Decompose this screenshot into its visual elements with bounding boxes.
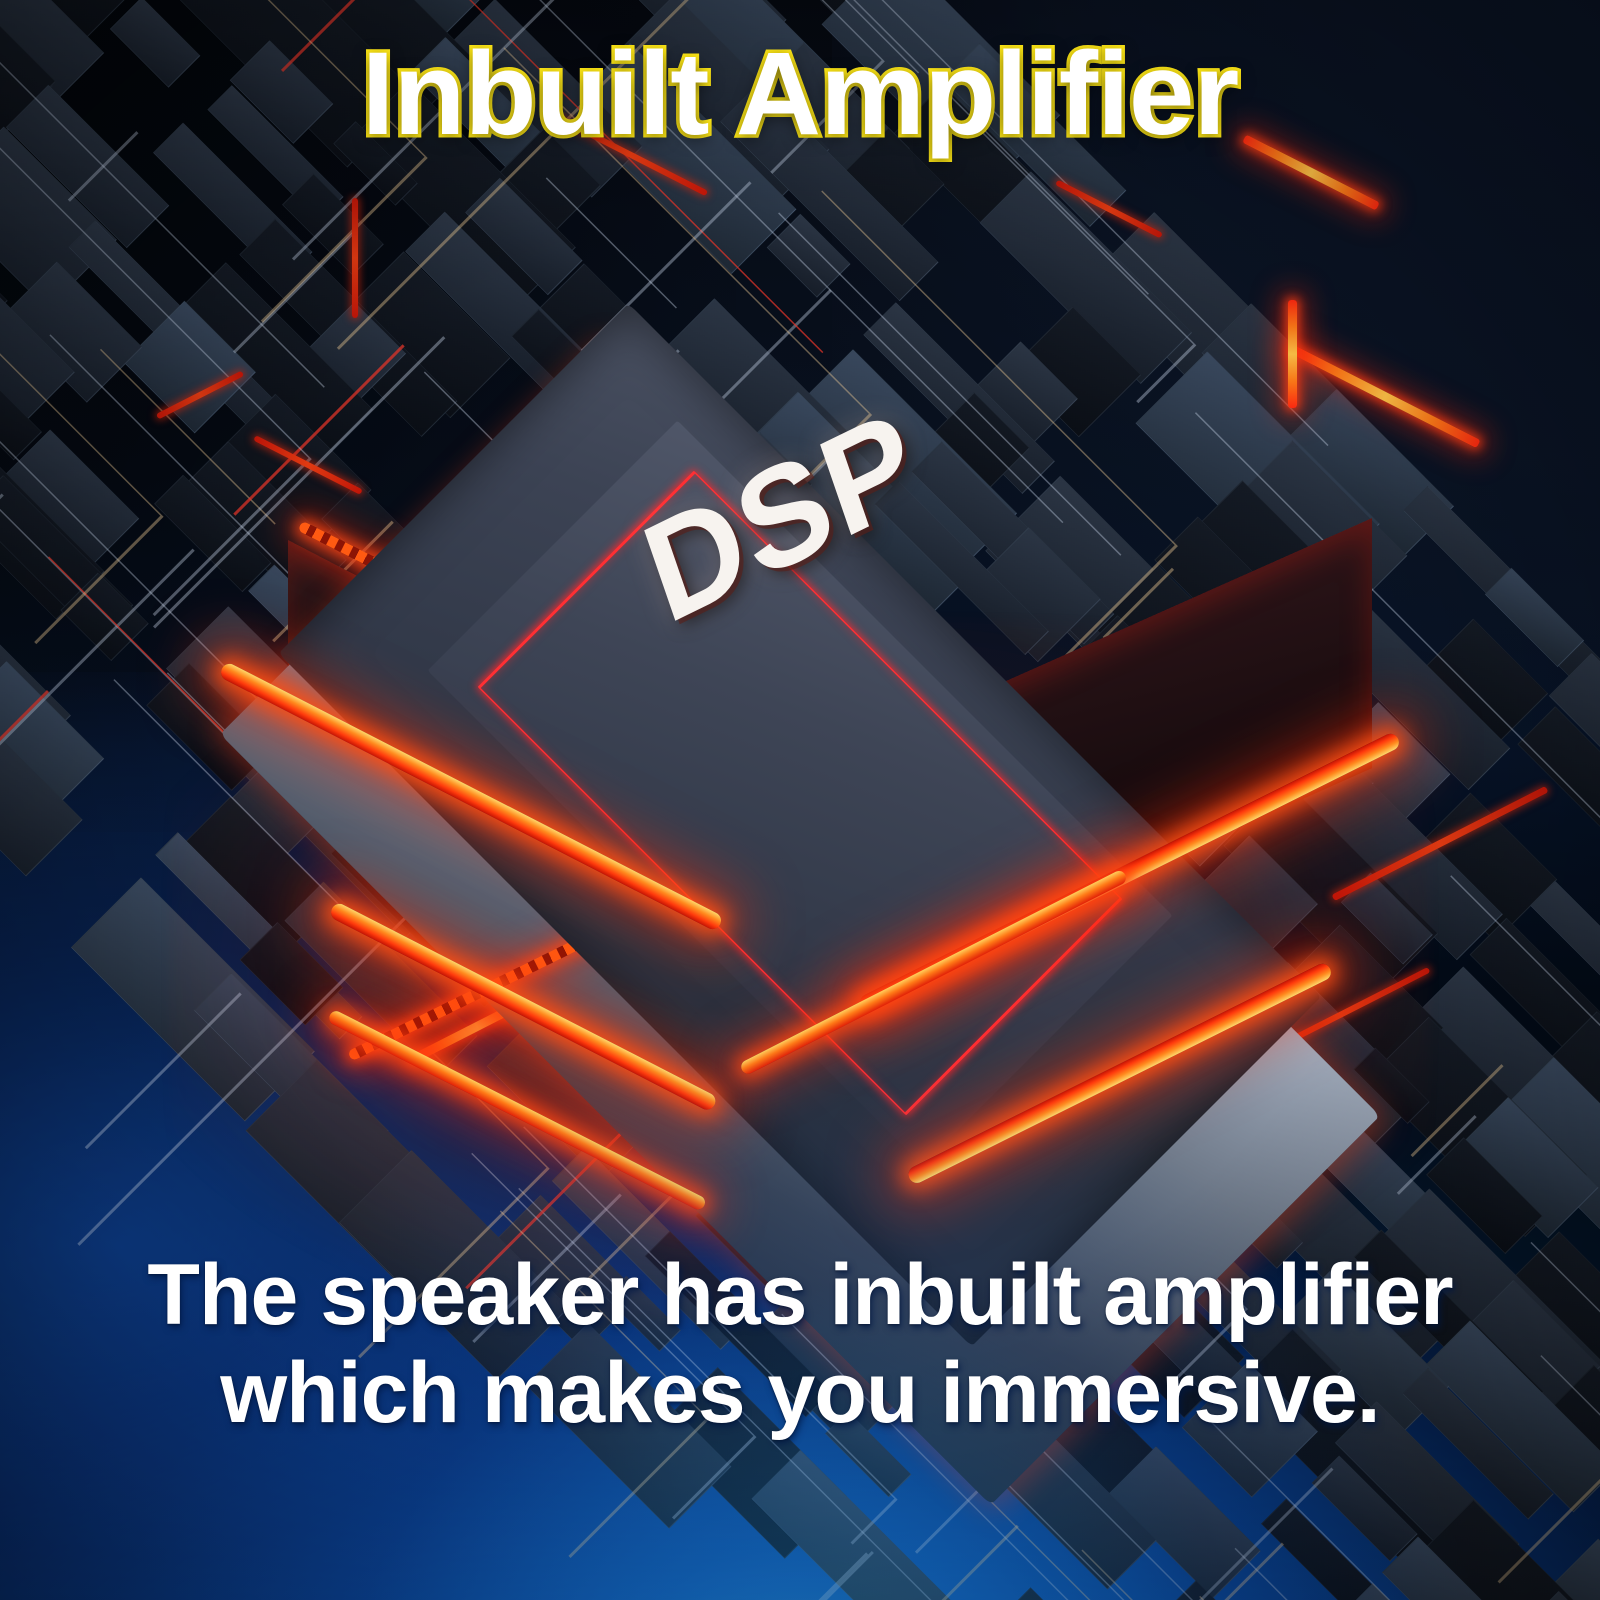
headline: Inbuilt Amplifier [0,34,1600,154]
caption: The speaker has inbuilt amplifier which … [0,1246,1600,1442]
caption-line-2: which makes you immersive. [0,1344,1600,1442]
product-feature-banner: DSP Inbuilt Amplifier The speaker has in… [0,0,1600,1600]
caption-line-1: The speaker has inbuilt amplifier [147,1247,1452,1343]
